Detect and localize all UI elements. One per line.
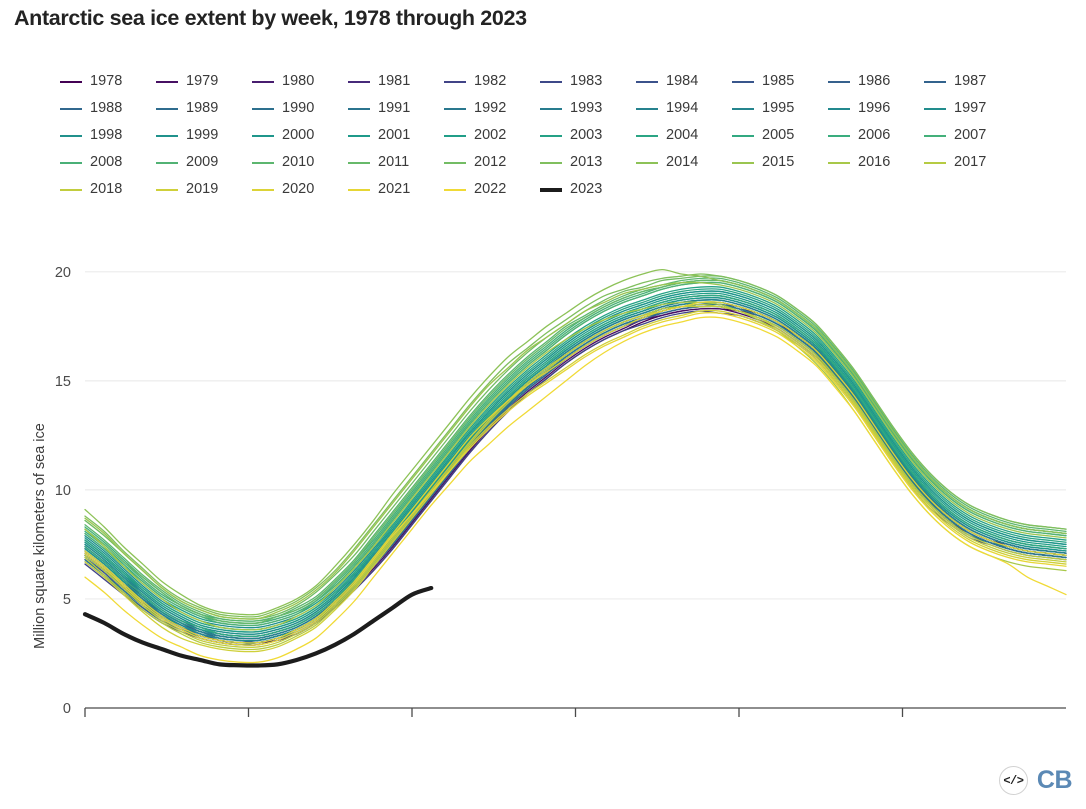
x-axis-tick-label: Mar — [236, 727, 261, 728]
legend-swatch-icon — [636, 135, 658, 137]
legend-swatch-icon — [60, 189, 82, 191]
legend-swatch-icon — [252, 81, 274, 83]
legend-label: 1990 — [282, 101, 314, 116]
legend-label: 2016 — [858, 155, 890, 170]
y-axis-title: Million square kilometers of sea ice — [32, 336, 48, 736]
y-axis-tick-label: 5 — [63, 592, 71, 608]
legend-swatch-icon — [60, 81, 82, 83]
series-line-2004 — [85, 289, 1066, 630]
page-title: Antarctic sea ice extent by week, 1978 t… — [14, 6, 527, 31]
legend-item-1997[interactable]: 1997 — [924, 101, 1020, 116]
legend-swatch-icon — [156, 162, 178, 164]
footer-branding: </> CB — [999, 766, 1072, 795]
series-line-2014 — [85, 270, 1066, 615]
legend-row: 1978197919801981198219831984198519861987 — [60, 68, 1080, 95]
legend-swatch-icon — [60, 135, 82, 137]
legend-label: 1978 — [90, 74, 122, 89]
legend-swatch-icon — [60, 162, 82, 164]
legend-label: 2010 — [282, 155, 314, 170]
legend-label: 2009 — [186, 155, 218, 170]
legend-item-2000[interactable]: 2000 — [252, 128, 348, 143]
legend-item-1990[interactable]: 1990 — [252, 101, 348, 116]
legend-label: 2005 — [762, 128, 794, 143]
legend-item-2017[interactable]: 2017 — [924, 155, 1020, 170]
legend-swatch-icon — [252, 162, 274, 164]
legend-label: 1993 — [570, 101, 602, 116]
legend-swatch-icon — [348, 189, 370, 191]
x-axis-tick-label: Sep — [726, 727, 752, 728]
legend-item-1996[interactable]: 1996 — [828, 101, 924, 116]
y-axis-tick-labels: 05101520 — [55, 265, 71, 717]
legend-swatch-icon — [540, 162, 562, 164]
legend-swatch-icon — [828, 108, 850, 110]
legend-swatch-icon — [540, 81, 562, 83]
legend-item-1981[interactable]: 1981 — [348, 74, 444, 89]
legend-item-2011[interactable]: 2011 — [348, 155, 444, 170]
legend-swatch-icon — [252, 135, 274, 137]
legend-label: 1980 — [282, 74, 314, 89]
legend-swatch-icon — [156, 81, 178, 83]
series-line-2012 — [85, 276, 1066, 619]
legend-item-1983[interactable]: 1983 — [540, 74, 636, 89]
legend-item-2002[interactable]: 2002 — [444, 128, 540, 143]
legend-label: 2007 — [954, 128, 986, 143]
legend-swatch-icon — [444, 189, 466, 191]
legend-item-2016[interactable]: 2016 — [828, 155, 924, 170]
legend-swatch-icon — [348, 162, 370, 164]
legend-item-2009[interactable]: 2009 — [156, 155, 252, 170]
legend-item-2005[interactable]: 2005 — [732, 128, 828, 143]
legend-swatch-icon — [732, 162, 754, 164]
legend-label: 1981 — [378, 74, 410, 89]
legend-label: 1983 — [570, 74, 602, 89]
legend-swatch-icon — [252, 189, 274, 191]
line-chart-svg: 05101520 JanMarMayJulSepNov — [0, 228, 1086, 728]
series-lines — [85, 270, 1066, 666]
legend-label: 2001 — [378, 128, 410, 143]
legend-item-1988[interactable]: 1988 — [60, 101, 156, 116]
legend-swatch-icon — [924, 135, 946, 137]
legend-item-1991[interactable]: 1991 — [348, 101, 444, 116]
legend-swatch-icon — [444, 162, 466, 164]
legend-item-1979[interactable]: 1979 — [156, 74, 252, 89]
legend-item-1985[interactable]: 1985 — [732, 74, 828, 89]
legend-swatch-icon — [540, 135, 562, 137]
legend-item-1989[interactable]: 1989 — [156, 101, 252, 116]
legend-item-1992[interactable]: 1992 — [444, 101, 540, 116]
series-line-2007 — [85, 280, 1066, 621]
legend-swatch-icon — [924, 81, 946, 83]
legend-swatch-icon — [924, 162, 946, 164]
legend-label: 1999 — [186, 128, 218, 143]
legend-item-2018[interactable]: 2018 — [60, 182, 156, 197]
legend-swatch-icon — [348, 135, 370, 137]
legend-label: 2015 — [762, 155, 794, 170]
legend-item-2014[interactable]: 2014 — [636, 155, 732, 170]
legend-label: 2019 — [186, 182, 218, 197]
x-axis-tick-label: Jan — [73, 727, 96, 728]
legend-label: 1987 — [954, 74, 986, 89]
legend-label: 2021 — [378, 182, 410, 197]
carbon-brief-logo: CB — [1037, 768, 1072, 793]
legend-item-2012[interactable]: 2012 — [444, 155, 540, 170]
x-axis: JanMarMayJulSepNov — [73, 708, 1066, 728]
legend-label: 2006 — [858, 128, 890, 143]
legend-label: 1984 — [666, 74, 698, 89]
legend-item-2015[interactable]: 2015 — [732, 155, 828, 170]
legend-swatch-icon — [732, 81, 754, 83]
legend-swatch-icon — [828, 162, 850, 164]
legend-item-2020[interactable]: 2020 — [252, 182, 348, 197]
legend-label: 2013 — [570, 155, 602, 170]
legend-item-1999[interactable]: 1999 — [156, 128, 252, 143]
series-line-2010 — [85, 278, 1066, 621]
legend-swatch-icon — [348, 108, 370, 110]
legend-row: 1998199920002001200220032004200520062007 — [60, 122, 1080, 149]
legend-swatch-icon — [252, 108, 274, 110]
legend-label: 2002 — [474, 128, 506, 143]
legend-label: 2017 — [954, 155, 986, 170]
series-line-2008 — [85, 280, 1066, 623]
legend-item-2001[interactable]: 2001 — [348, 128, 444, 143]
legend-label: 2020 — [282, 182, 314, 197]
legend-item-1993[interactable]: 1993 — [540, 101, 636, 116]
legend-swatch-icon — [156, 108, 178, 110]
legend-item-1986[interactable]: 1986 — [828, 74, 924, 89]
legend-label: 2022 — [474, 182, 506, 197]
legend-label: 1996 — [858, 101, 890, 116]
legend-label: 1995 — [762, 101, 794, 116]
chart-legend: 1978197919801981198219831984198519861987… — [60, 68, 1080, 203]
legend-label: 1985 — [762, 74, 794, 89]
legend-row: 201820192020202120222023 — [60, 176, 1080, 203]
legend-swatch-icon — [444, 135, 466, 137]
legend-swatch-icon — [924, 108, 946, 110]
legend-item-2006[interactable]: 2006 — [828, 128, 924, 143]
legend-swatch-icon — [636, 81, 658, 83]
chart-container: Antarctic sea ice extent by week, 1978 t… — [0, 0, 1086, 809]
legend-label: 1989 — [186, 101, 218, 116]
legend-swatch-icon — [636, 162, 658, 164]
legend-row: 2008200920102011201220132014201520162017 — [60, 149, 1080, 176]
legend-item-2021[interactable]: 2021 — [348, 182, 444, 197]
legend-label: 1988 — [90, 101, 122, 116]
x-axis-tick-label: May — [398, 727, 426, 728]
legend-label: 2004 — [666, 128, 698, 143]
legend-label: 2023 — [570, 182, 602, 197]
legend-label: 2011 — [378, 155, 409, 170]
legend-swatch-icon — [156, 135, 178, 137]
legend-label: 2012 — [474, 155, 506, 170]
legend-item-1982[interactable]: 1982 — [444, 74, 540, 89]
legend-label: 1986 — [858, 74, 890, 89]
legend-label: 1991 — [378, 101, 410, 116]
legend-row: 1988198919901991199219931994199519961997 — [60, 95, 1080, 122]
legend-item-2008[interactable]: 2008 — [60, 155, 156, 170]
y-axis-tick-label: 15 — [55, 374, 71, 390]
legend-label: 1998 — [90, 128, 122, 143]
legend-item-2013[interactable]: 2013 — [540, 155, 636, 170]
legend-item-1994[interactable]: 1994 — [636, 101, 732, 116]
legend-swatch-icon — [156, 189, 178, 191]
legend-label: 1994 — [666, 101, 698, 116]
legend-item-2010[interactable]: 2010 — [252, 155, 348, 170]
legend-swatch-icon — [828, 81, 850, 83]
y-axis-tick-label: 10 — [55, 483, 71, 499]
y-axis-tick-label: 20 — [55, 265, 71, 281]
legend-swatch-icon — [732, 135, 754, 137]
legend-item-1987[interactable]: 1987 — [924, 74, 1020, 89]
legend-label: 1982 — [474, 74, 506, 89]
legend-item-2004[interactable]: 2004 — [636, 128, 732, 143]
legend-swatch-icon — [60, 108, 82, 110]
legend-item-1984[interactable]: 1984 — [636, 74, 732, 89]
legend-item-1978[interactable]: 1978 — [60, 74, 156, 89]
code-embed-icon[interactable]: </> — [999, 766, 1028, 795]
legend-label: 1997 — [954, 101, 986, 116]
legend-label: 1992 — [474, 101, 506, 116]
legend-label: 2014 — [666, 155, 698, 170]
legend-label: 2018 — [90, 182, 122, 197]
legend-swatch-icon — [444, 81, 466, 83]
legend-swatch-icon — [540, 108, 562, 110]
y-axis-tick-label: 0 — [63, 701, 71, 717]
legend-swatch-icon — [828, 135, 850, 137]
legend-item-2022[interactable]: 2022 — [444, 182, 540, 197]
x-axis-tick-label: Nov — [890, 727, 917, 728]
legend-item-1995[interactable]: 1995 — [732, 101, 828, 116]
legend-item-1980[interactable]: 1980 — [252, 74, 348, 89]
legend-item-1998[interactable]: 1998 — [60, 128, 156, 143]
x-axis-tick-label: Jul — [566, 727, 585, 728]
legend-swatch-icon — [540, 188, 562, 192]
series-line-2011 — [85, 280, 1066, 623]
legend-swatch-icon — [348, 81, 370, 83]
legend-label: 1979 — [186, 74, 218, 89]
legend-item-2019[interactable]: 2019 — [156, 182, 252, 197]
legend-swatch-icon — [636, 108, 658, 110]
legend-label: 2008 — [90, 155, 122, 170]
legend-swatch-icon — [444, 108, 466, 110]
legend-swatch-icon — [732, 108, 754, 110]
legend-label: 2000 — [282, 128, 314, 143]
legend-item-2023[interactable]: 2023 — [540, 182, 636, 197]
plot-area: Million square kilometers of sea ice 051… — [0, 228, 1086, 728]
legend-label: 2003 — [570, 128, 602, 143]
legend-item-2007[interactable]: 2007 — [924, 128, 1020, 143]
legend-item-2003[interactable]: 2003 — [540, 128, 636, 143]
